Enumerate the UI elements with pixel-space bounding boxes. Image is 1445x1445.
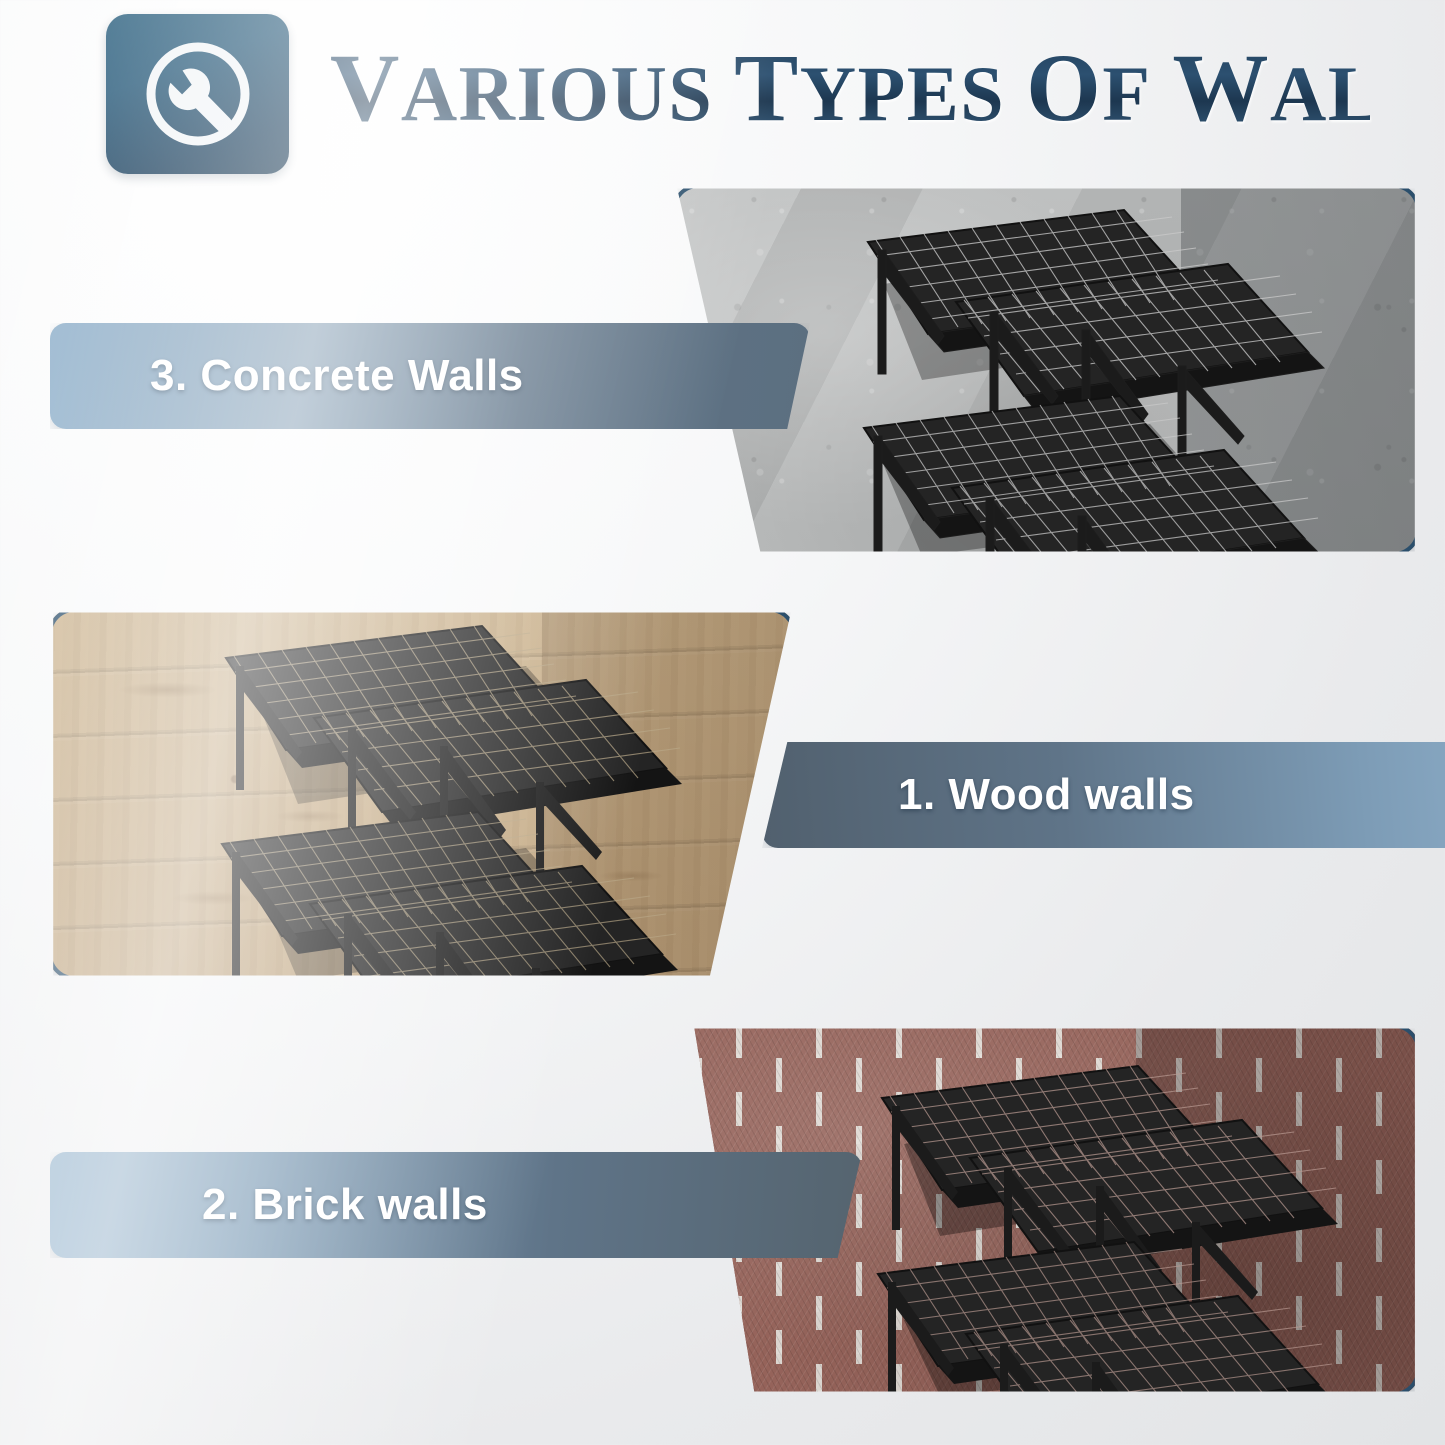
label-banner-concrete[interactable]: 3. Concrete Walls xyxy=(50,323,810,429)
label-banner-wood-text: 1. Wood walls xyxy=(898,770,1195,820)
page-title-text: VARIOUS TYPES OF WALLS xyxy=(330,40,1445,136)
label-banner-concrete-text: 3. Concrete Walls xyxy=(150,351,524,401)
label-banner-brick[interactable]: 2. Brick walls xyxy=(50,1152,862,1258)
brand-logo-badge xyxy=(106,14,289,174)
label-banner-brick-text: 2. Brick walls xyxy=(202,1180,488,1230)
page-title: VARIOUS TYPES OF WALLS xyxy=(330,33,1370,143)
shelf-units-wood xyxy=(48,608,796,980)
panel-wood-walls xyxy=(48,608,796,980)
page-header: VARIOUS TYPES OF WALLS xyxy=(0,0,1445,190)
label-banner-wood[interactable]: 1. Wood walls xyxy=(762,742,1445,848)
